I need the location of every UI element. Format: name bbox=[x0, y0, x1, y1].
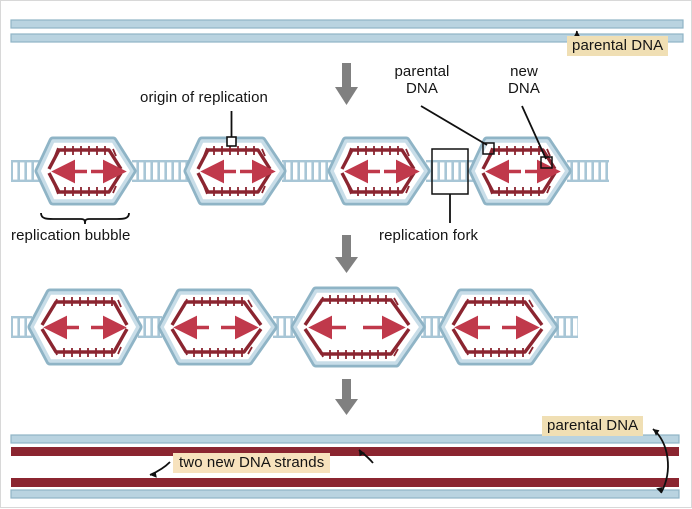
label-two-new-dna-strands: two new DNA strands bbox=[173, 453, 330, 473]
enlarged-bubble-1 bbox=[32, 293, 138, 361]
enlarged-bubble-4 bbox=[443, 293, 554, 361]
label-parental-dna-callout: parental DNA bbox=[383, 63, 461, 97]
brace-replication-bubble bbox=[41, 213, 129, 224]
arrow-stage1-to-stage2 bbox=[335, 63, 358, 105]
daughter-1-new-strand bbox=[11, 447, 679, 456]
label-parental-dna-top: parental DNA bbox=[567, 36, 668, 56]
stage-4-daughter-duplexes bbox=[11, 435, 679, 498]
replication-bubble-3 bbox=[332, 141, 426, 201]
stage-3-enlarged-bubbles bbox=[11, 291, 578, 363]
label-origin-of-replication: origin of replication bbox=[140, 89, 268, 106]
figure-canvas: parental DNA origin of replication paren… bbox=[0, 0, 692, 508]
label-new-dna-callout: new DNA bbox=[493, 63, 555, 97]
replication-bubble-1 bbox=[39, 141, 132, 201]
arrow-stage2-to-stage3 bbox=[335, 235, 358, 273]
label-parental-dna-line1: parental bbox=[383, 63, 461, 80]
arrow-stage3-to-stage4 bbox=[335, 379, 358, 415]
leader-parental-dna bbox=[421, 106, 487, 145]
enlarged-bubble-2 bbox=[162, 293, 273, 361]
label-replication-bubble: replication bubble bbox=[11, 227, 130, 244]
replication-bubble-2 bbox=[188, 111, 282, 201]
label-parental-dna-bottom: parental DNA bbox=[542, 416, 643, 436]
origin-of-replication-marker bbox=[227, 137, 236, 146]
daughter-1-parental-strand bbox=[11, 435, 679, 443]
label-new-dna-line2: DNA bbox=[493, 80, 555, 97]
stage-2-replication-bubbles bbox=[11, 106, 609, 224]
enlarged-bubble-3 bbox=[295, 291, 421, 363]
daughter-2-parental-strand bbox=[11, 490, 679, 498]
label-new-dna-line1: new bbox=[493, 63, 555, 80]
daughter-2-new-strand bbox=[11, 478, 679, 487]
label-parental-dna-line2: DNA bbox=[383, 80, 461, 97]
label-replication-fork: replication fork bbox=[379, 227, 478, 244]
